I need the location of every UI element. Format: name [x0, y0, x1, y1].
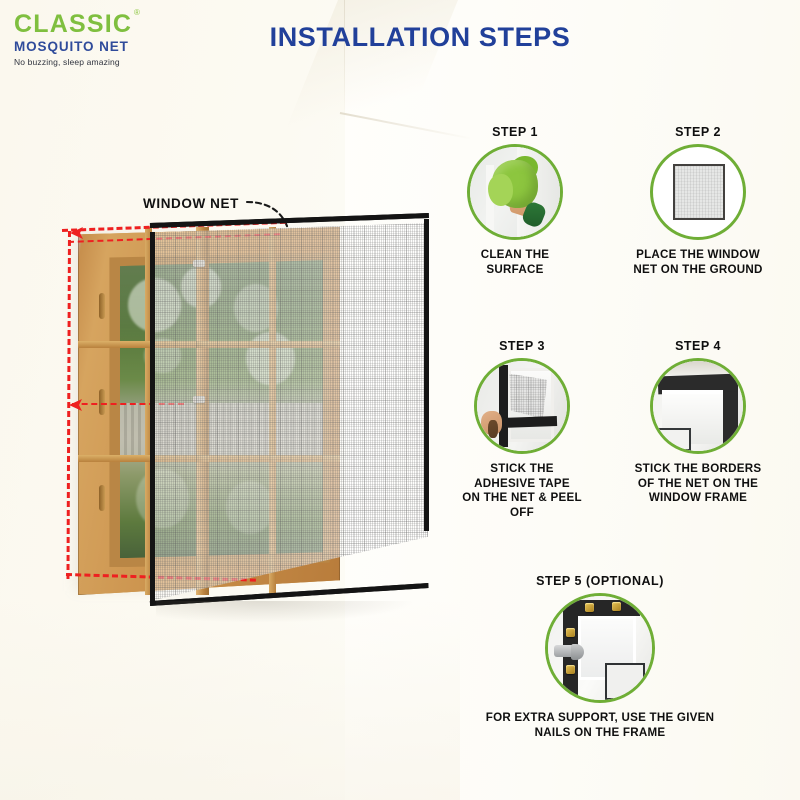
step-1-image — [467, 144, 563, 240]
page-title: INSTALLATION STEPS — [250, 22, 590, 53]
registered-trademark-icon: ® — [134, 9, 141, 17]
nail-icon — [612, 602, 621, 611]
window-net-illustration — [60, 215, 430, 605]
step-3-title: STEP 3 — [452, 339, 592, 353]
wall-corner-line — [344, 0, 345, 122]
window-handle-bottom[interactable] — [99, 485, 105, 511]
step-1-artwork-cleaning-cloth — [470, 147, 560, 237]
step-2-title: STEP 2 — [628, 125, 768, 139]
brand-tagline: No buzzing, sleep amazing — [14, 58, 164, 67]
step-5-image — [545, 593, 655, 703]
step-2-artwork-net-on-ground — [653, 147, 743, 237]
outline-arrow-left-icon — [70, 226, 86, 240]
step-4-title: STEP 4 — [628, 339, 768, 353]
nail-icon — [566, 665, 575, 674]
brand-subtitle: MOSQUITO NET — [14, 40, 164, 54]
nail-icon — [585, 603, 594, 612]
step-5-artwork-nails-on-frame — [548, 596, 652, 700]
net-frame-right-edge — [424, 219, 429, 531]
outline-arrow-middle-icon — [69, 398, 85, 412]
step-4: STEP 4 STICK THE BORDERS OF THE NET ON T… — [628, 339, 768, 506]
step-3-artwork-peel-adhesive-tape — [477, 361, 567, 451]
step-2: STEP 2 PLACE THE WINDOW NET ON THE GROUN… — [628, 125, 768, 277]
nail-icon — [566, 628, 575, 637]
window-handle-top[interactable] — [99, 293, 105, 319]
step-4-image — [650, 358, 746, 454]
floor-shading — [0, 600, 460, 800]
step-4-artwork-stick-borders — [653, 361, 743, 451]
mosquito-net-mesh-panel — [150, 223, 428, 601]
step-3-image — [474, 358, 570, 454]
step-3: STEP 3 STICK THE ADHESIVE TAPE ON THE NE… — [452, 339, 592, 521]
installation-steps-infographic: CLASSIC® MOSQUITO NET No buzzing, sleep … — [0, 0, 800, 800]
window-handle-middle[interactable] — [99, 389, 105, 415]
step-5-title: STEP 5 (OPTIONAL) — [480, 574, 720, 588]
step-1-title: STEP 1 — [452, 125, 578, 139]
step-5-caption: FOR EXTRA SUPPORT, USE THE GIVEN NAILS O… — [480, 711, 720, 740]
step-1: STEP 1 CLEAN THE SURFACE — [452, 125, 578, 277]
window-net-callout-label: WINDOW NET — [143, 196, 239, 211]
brand-logo: CLASSIC® MOSQUITO NET No buzzing, sleep … — [14, 12, 164, 66]
step-2-image — [650, 144, 746, 240]
net-drop-shadow — [156, 601, 416, 623]
step-4-caption: STICK THE BORDERS OF THE NET ON THE WIND… — [628, 462, 768, 506]
step-5: STEP 5 (OPTIONAL) FOR EXTRA SUPPORT, USE… — [480, 574, 720, 740]
net-frame-left-edge — [150, 232, 155, 603]
step-3-caption: STICK THE ADHESIVE TAPE ON THE NET & PEE… — [452, 462, 592, 521]
step-2-caption: PLACE THE WINDOW NET ON THE GROUND — [628, 248, 768, 277]
step-1-caption: CLEAN THE SURFACE — [452, 248, 578, 277]
brand-name: CLASSIC® — [14, 12, 132, 37]
